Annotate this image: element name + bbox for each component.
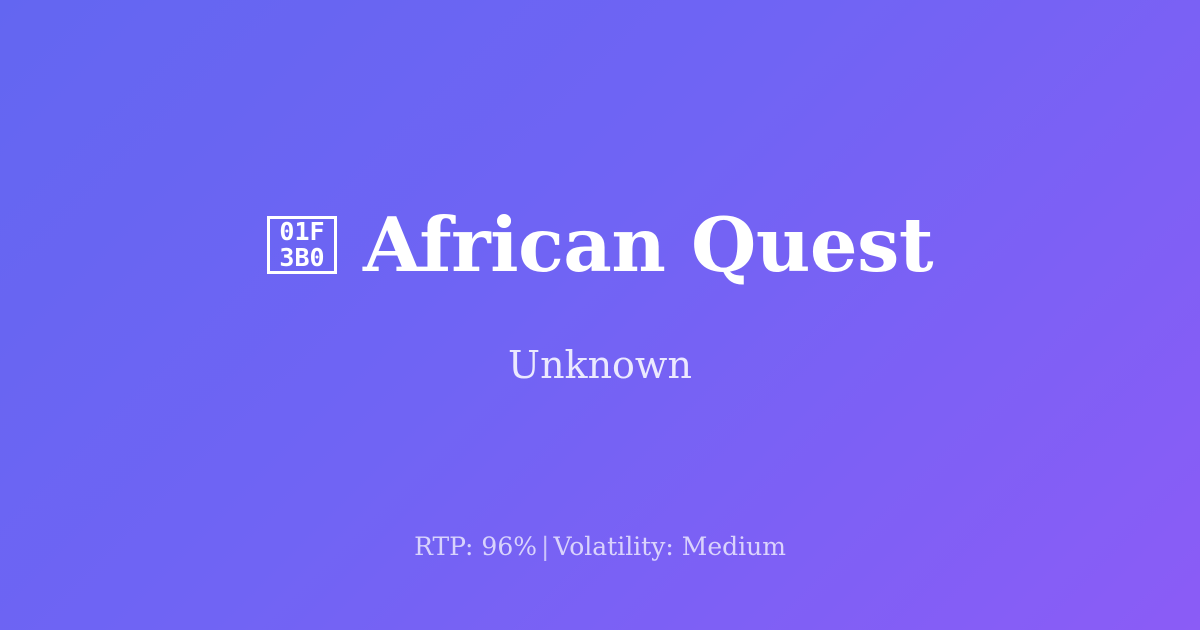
slot-machine-emoji-icon: 01F 3B0 xyxy=(267,216,337,274)
volatility-stat: Volatility: Medium xyxy=(553,532,785,561)
game-stats-footer: RTP: 96%|Volatility: Medium xyxy=(0,532,1200,562)
og-preview-card: 01F 3B0 African Quest Unknown RTP: 96%|V… xyxy=(0,0,1200,630)
rtp-stat: RTP: 96% xyxy=(414,532,537,561)
page-title: African Quest xyxy=(363,206,933,285)
title-row: 01F 3B0 African Quest xyxy=(60,206,1140,285)
game-provider-subtitle: Unknown xyxy=(508,343,692,389)
glyph-hex-top: 01F xyxy=(279,219,324,245)
stat-separator: | xyxy=(537,532,553,561)
glyph-hex-bottom: 3B0 xyxy=(279,245,324,271)
hero-block: 01F 3B0 African Quest Unknown xyxy=(0,206,1200,388)
